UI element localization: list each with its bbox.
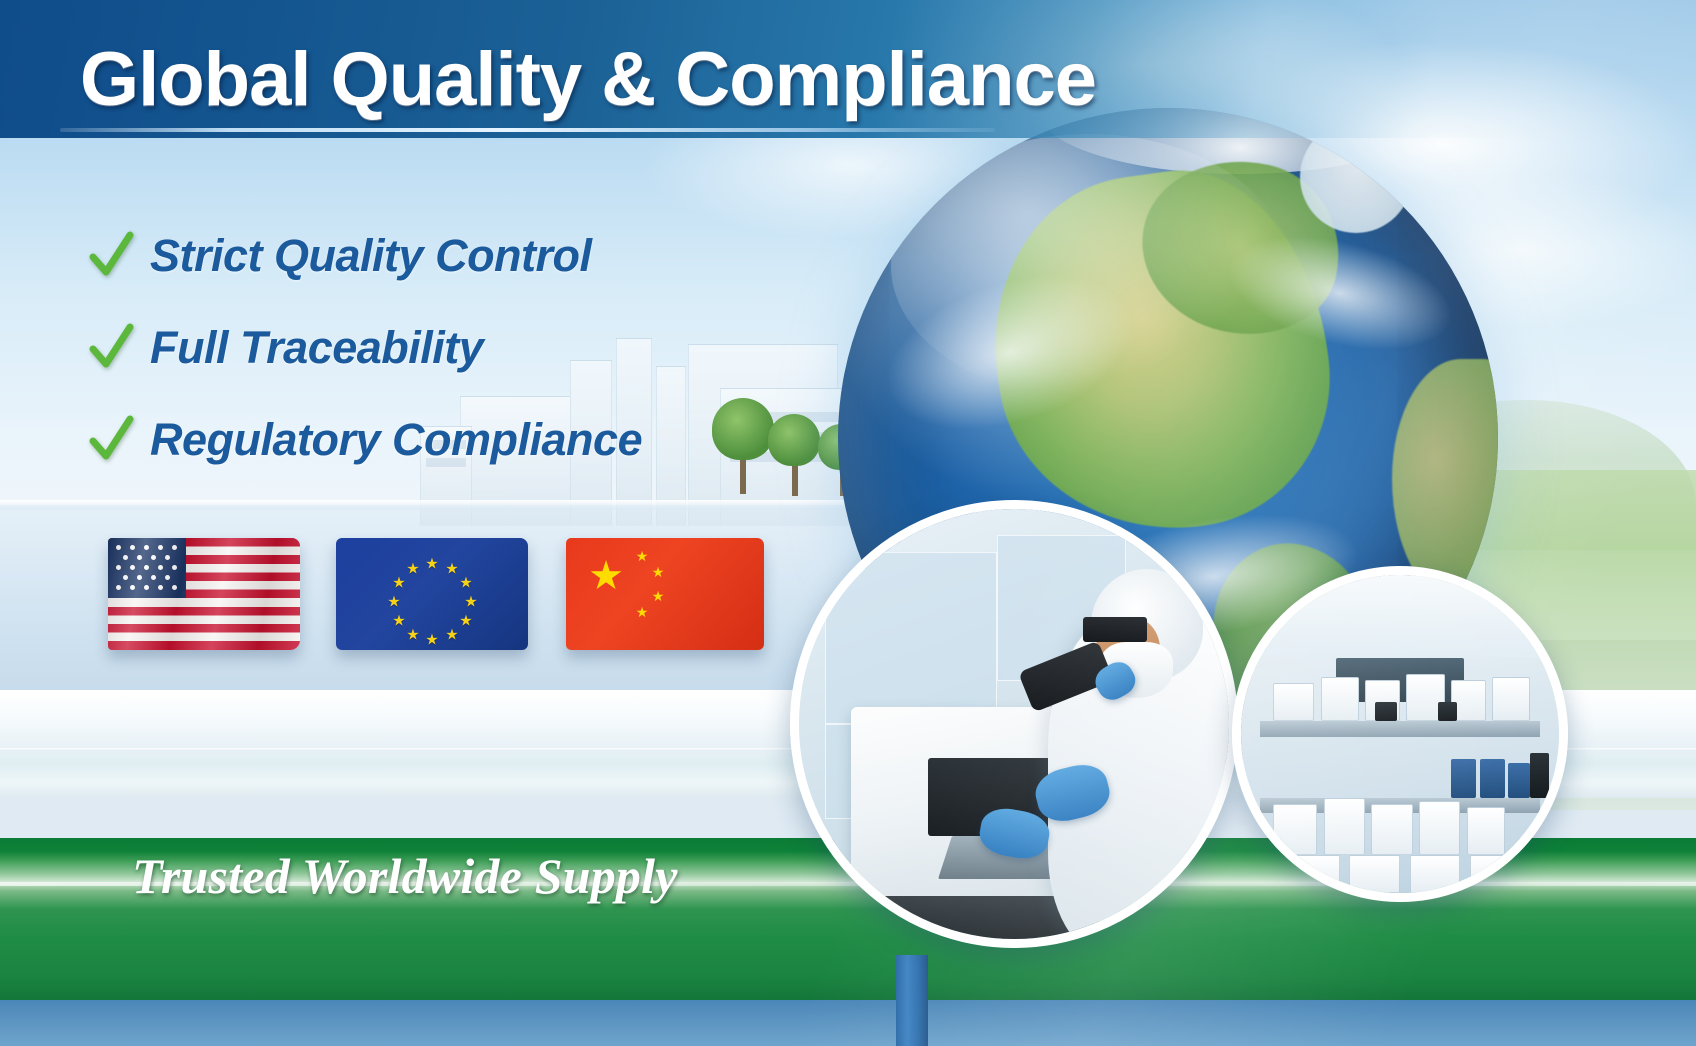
feature-label: Regulatory Compliance bbox=[150, 414, 642, 466]
feature-label: Strict Quality Control bbox=[150, 230, 592, 282]
check-icon bbox=[88, 230, 134, 282]
floor-band bbox=[0, 1000, 1696, 1046]
feature-item: Regulatory Compliance bbox=[88, 394, 708, 486]
header-divider bbox=[60, 128, 995, 132]
tree-icon bbox=[768, 414, 820, 466]
flag-row: ★ ★ ★ ★ ★ ★ ★ ★ ★ ★ ★ ★ ★ ★ ★ ★ ★ bbox=[108, 538, 808, 668]
feature-list: Strict Quality Control Full Traceability… bbox=[88, 210, 708, 486]
check-icon bbox=[88, 414, 134, 466]
feature-item: Strict Quality Control bbox=[88, 210, 708, 302]
page-title: Global Quality & Compliance bbox=[80, 36, 1096, 123]
tree-icon bbox=[712, 398, 774, 460]
united-states-flag bbox=[108, 538, 300, 650]
china-flag: ★ ★ ★ ★ ★ bbox=[566, 538, 764, 650]
check-icon bbox=[88, 322, 134, 374]
european-union-flag: ★ ★ ★ ★ ★ ★ ★ ★ ★ ★ ★ ★ bbox=[336, 538, 528, 650]
support-post bbox=[896, 955, 928, 1046]
tagline: Trusted Worldwide Supply bbox=[132, 847, 678, 905]
marketing-banner: Global Quality & Compliance Strict Quali… bbox=[0, 0, 1696, 1046]
feature-label: Full Traceability bbox=[150, 322, 483, 374]
warehouse-photo bbox=[1232, 566, 1568, 902]
laboratory-photo bbox=[790, 500, 1238, 948]
feature-item: Full Traceability bbox=[88, 302, 708, 394]
